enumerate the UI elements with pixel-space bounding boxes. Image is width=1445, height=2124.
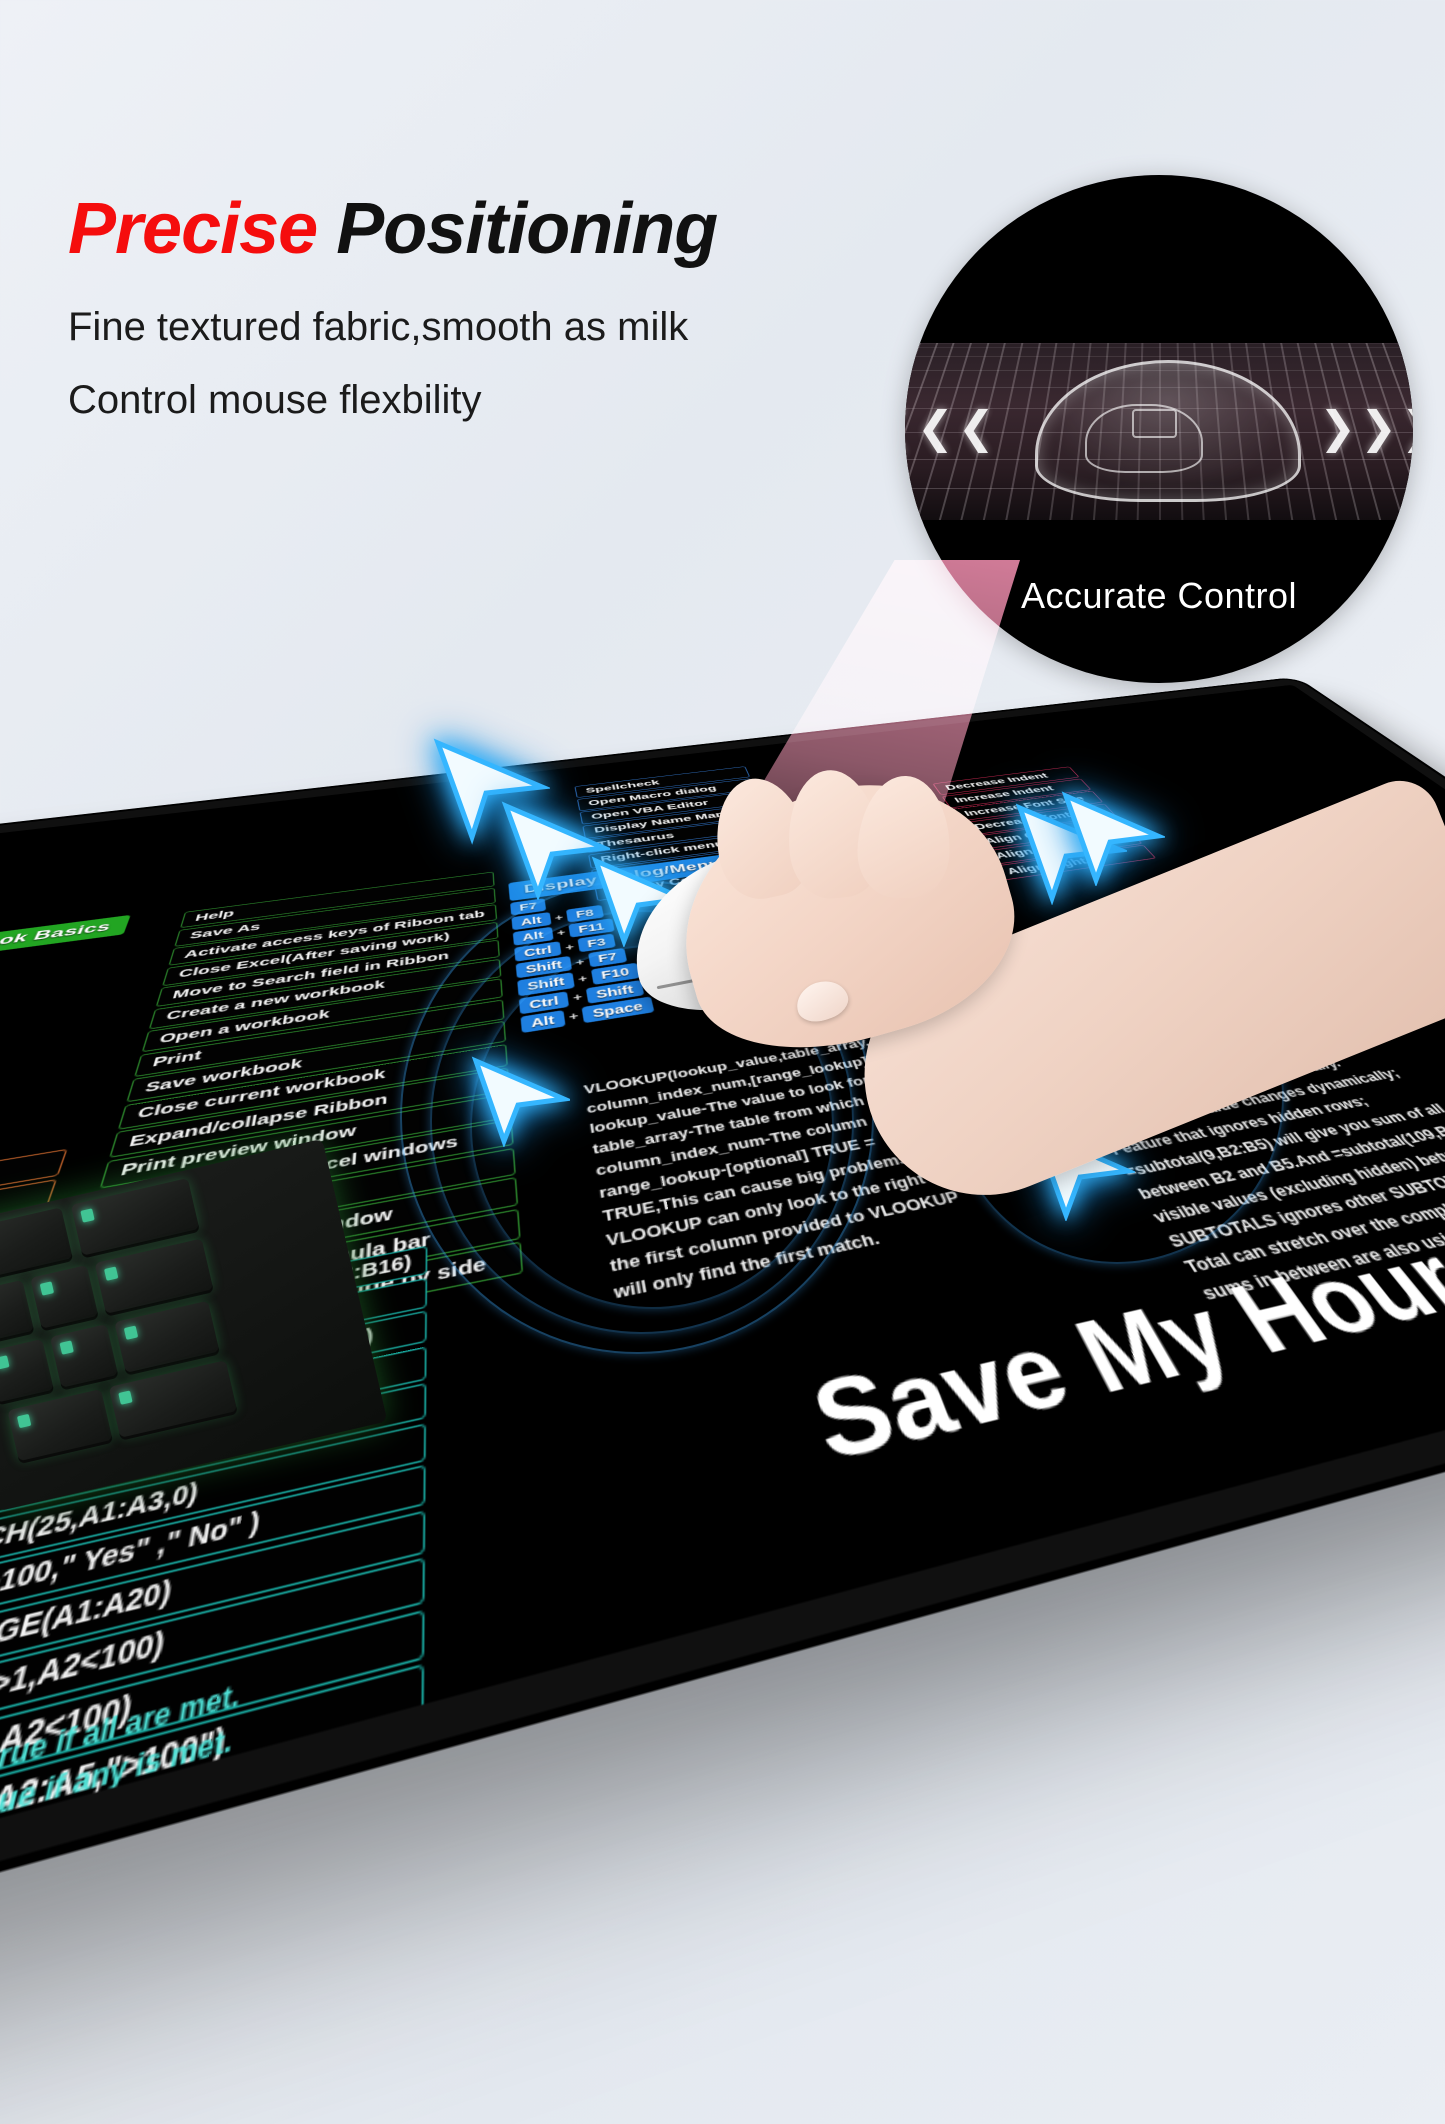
plus-icon: + — [575, 956, 585, 968]
grid-surface: ❮❮❮ ❯❯❯ — [905, 343, 1413, 521]
grid-line — [905, 343, 1413, 344]
plus-icon: + — [564, 941, 574, 953]
headline-accent: Precise — [68, 189, 317, 269]
plus-icon: + — [554, 912, 564, 923]
chevron-left-icon: ❮❮❮ — [905, 402, 999, 453]
headline-rest: Positioning — [336, 189, 717, 269]
hand-with-mouse — [620, 760, 1380, 1320]
text-line: ROUND(A2,3) — [0, 1856, 423, 2050]
grid-line — [905, 356, 1413, 357]
grid-line — [905, 347, 1413, 348]
plus-icon: + — [568, 1010, 579, 1023]
text-line: RANDBETWEEN(0,100) — [0, 1787, 424, 2050]
chevron-right-icon: ❯❯❯ — [1319, 402, 1413, 453]
plus-icon: + — [572, 991, 583, 1004]
page-headline: Precise Positioning — [68, 188, 717, 270]
plus-icon: + — [556, 927, 566, 938]
subheadline-one: Fine textured fabric,smooth as milk — [68, 305, 688, 350]
plus-icon: + — [578, 972, 589, 984]
subheadline-two: Control mouse flexbility — [68, 378, 482, 423]
keycap: Alt — [520, 1010, 565, 1033]
